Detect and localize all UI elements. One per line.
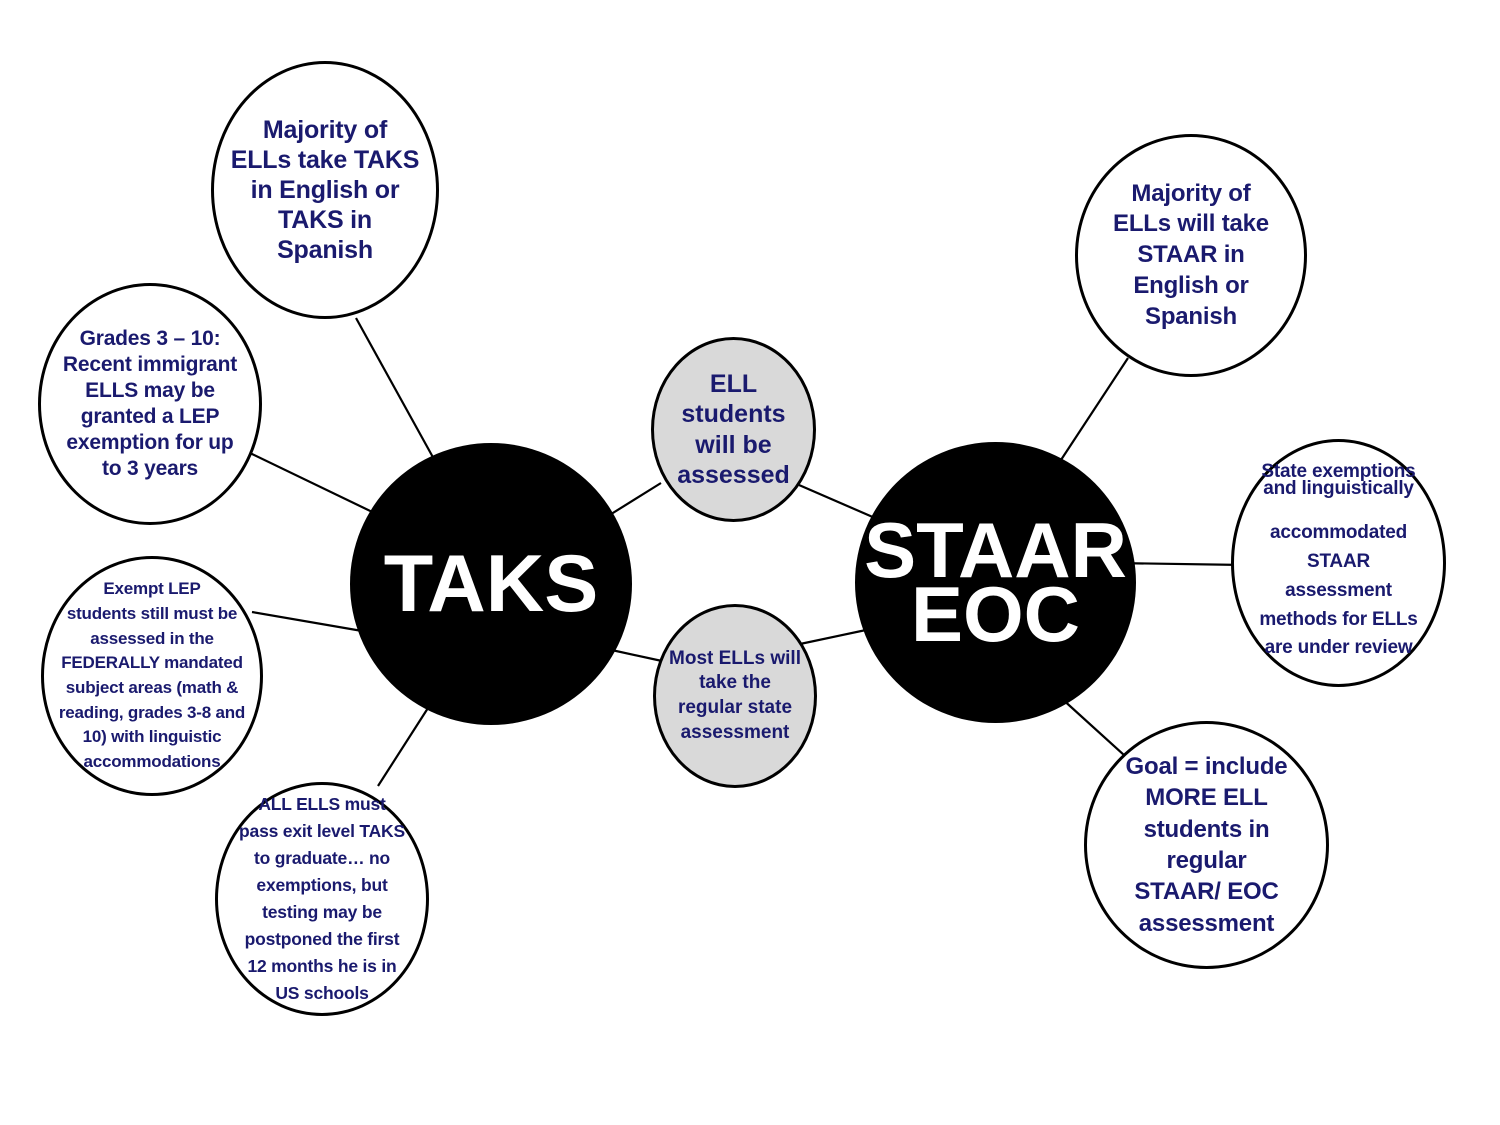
node-taks-exempt-lep[interactable]: Exempt LEP students still must be assess…	[41, 556, 263, 796]
node-hub-taks[interactable]: TAKS	[350, 443, 632, 725]
node-taks-grades[interactable]: Grades 3 – 10: Recent immigrant ELLS may…	[38, 283, 262, 525]
connector-taks-most-ells	[607, 649, 662, 661]
connector-taks-exit	[378, 708, 428, 786]
connector-staar-majority	[1057, 358, 1128, 466]
node-taks-exempt-lep-label: Exempt LEP students still must be assess…	[50, 577, 254, 774]
node-taks-grades-label: Grades 3 – 10: Recent immigrant ELLS may…	[51, 326, 249, 482]
node-taks-exit-level[interactable]: ALL ELLS must pass exit level TAKS to gr…	[215, 782, 429, 1016]
node-staar-goal[interactable]: Goal = include MORE ELL students in regu…	[1084, 721, 1329, 969]
node-staar-exemptions-rest: accommodated STAAR assessment methods fo…	[1236, 519, 1441, 663]
node-taks-majority[interactable]: Majority of ELLs take TAKS in English or…	[211, 61, 439, 319]
node-hub-taks-label: TAKS	[350, 551, 632, 617]
node-hub-staar-eoc[interactable]: STAAR EOC	[855, 442, 1136, 723]
node-most-ells-regular-label: Most ELLs will take the regular state as…	[657, 647, 813, 746]
node-staar-goal-label: Goal = include MORE ELL students in regu…	[1093, 751, 1320, 940]
node-staar-exemptions-line2: and linguistically	[1236, 480, 1441, 497]
concept-map-canvas: Majority of ELLs take TAKS in English or…	[0, 0, 1500, 1125]
node-staar-majority-label: Majority of ELLs will take STAAR in Engl…	[1088, 179, 1294, 333]
node-ell-students-assessed-label: ELL students will be assessed	[656, 369, 811, 491]
node-ell-students-assessed[interactable]: ELL students will be assessed	[651, 337, 816, 522]
node-taks-majority-label: Majority of ELLs take TAKS in English or…	[228, 115, 422, 265]
node-most-ells-regular[interactable]: Most ELLs will take the regular state as…	[653, 604, 817, 788]
connector-taks-majority	[356, 318, 440, 470]
node-hub-staar-eoc-label: STAAR EOC	[855, 519, 1136, 647]
node-taks-exit-level-label: ALL ELLS must pass exit level TAKS to gr…	[222, 791, 422, 1008]
node-staar-exemptions[interactable]: State exemptions and linguistically acco…	[1231, 439, 1446, 687]
node-staar-majority[interactable]: Majority of ELLs will take STAAR in Engl…	[1075, 134, 1307, 377]
